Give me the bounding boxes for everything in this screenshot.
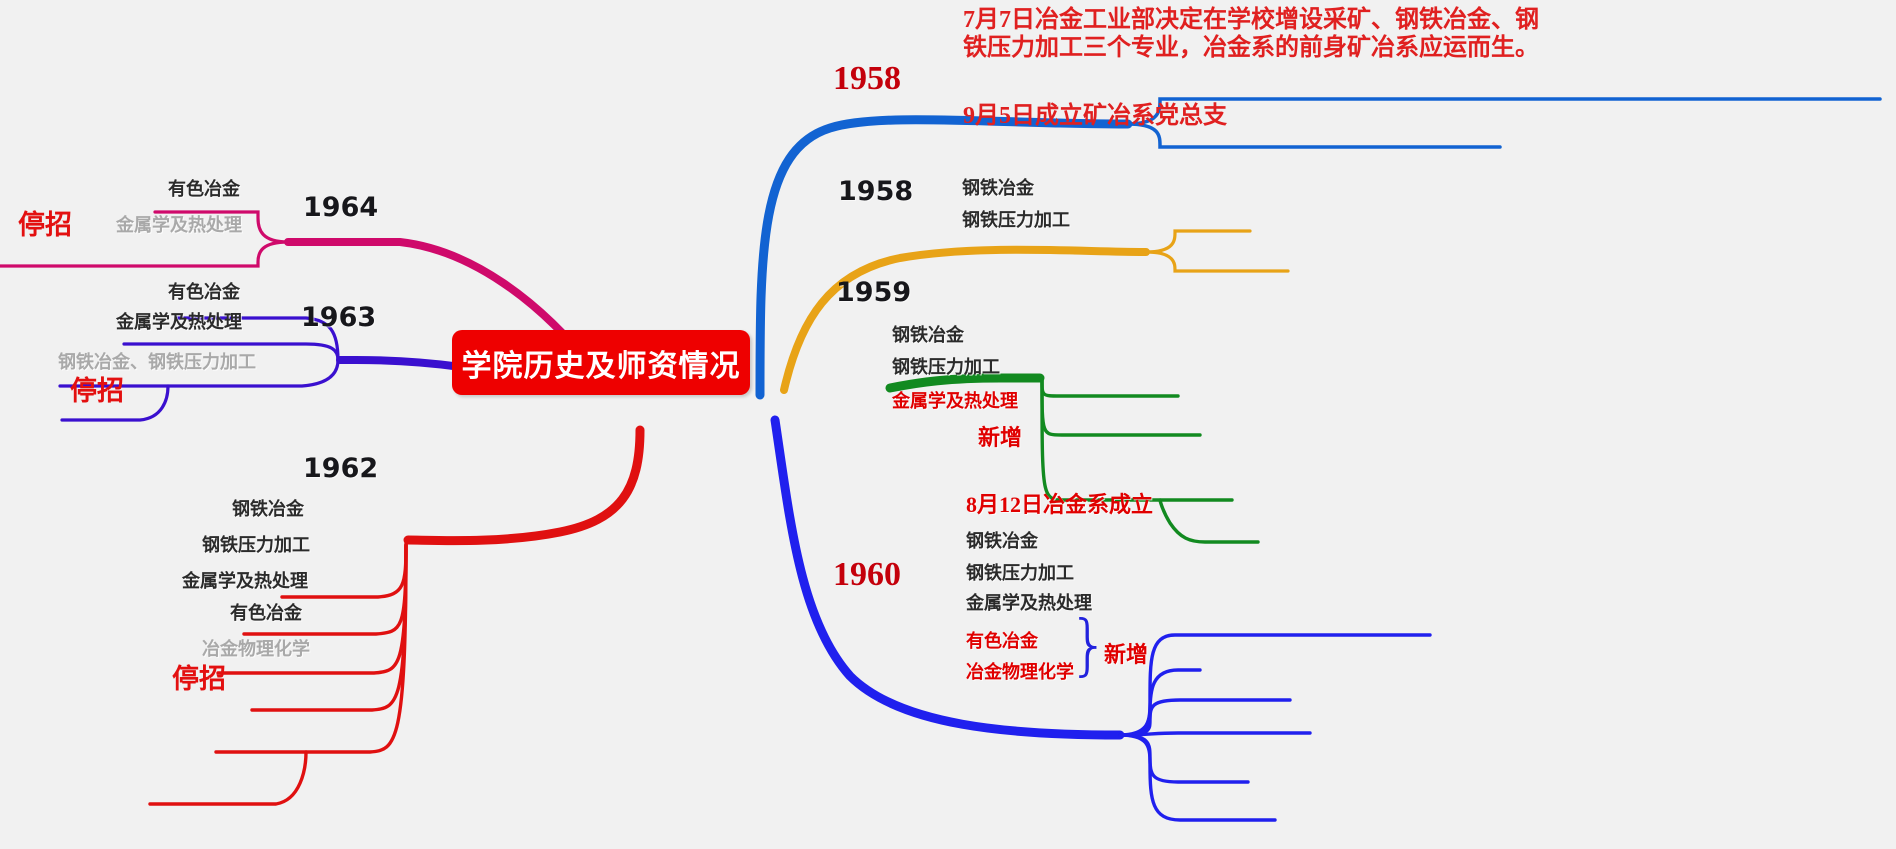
node-1959-steel-metallurgy[interactable]: 钢铁冶金 (892, 326, 964, 344)
node-1964-suspend-enrollment[interactable]: 停招 (18, 212, 72, 239)
node-1962-suspend-enrollment[interactable]: 停招 (172, 666, 226, 693)
node-1963-nonferrous-metallurgy[interactable]: 有色冶金 (168, 283, 240, 301)
node-1963-metallography-heat-treatment[interactable]: 金属学及热处理 (116, 313, 242, 331)
node-1963-suspend-enrollment[interactable]: 停招 (70, 378, 124, 405)
node-1963-steel-courses[interactable]: 钢铁冶金、钢铁压力加工 (58, 353, 256, 371)
branch-connectors (0, 0, 1896, 849)
node-1958o-steel-pressure-processing[interactable]: 钢铁压力加工 (962, 211, 1070, 229)
node-1958-party-branch[interactable]: 9月5日成立矿冶系党总支 (963, 102, 1227, 130)
node-1964-metallography-heat-treatment[interactable]: 金属学及热处理 (116, 216, 242, 234)
node-1960-nonferrous-metallurgy[interactable]: 有色冶金 (966, 632, 1038, 650)
node-1962-steel-metallurgy[interactable]: 钢铁冶金 (232, 500, 304, 518)
mindmap-canvas: 学院历史及师资情况 1958 7月7日冶金工业部决定在学校增设采矿、钢铁冶金、钢… (0, 0, 1896, 849)
node-1960-newly-added[interactable]: 新增 (1104, 644, 1148, 666)
year-label-1958-blue[interactable]: 1958 (833, 62, 901, 96)
node-1960-steel-pressure-processing[interactable]: 钢铁压力加工 (966, 564, 1074, 582)
year-label-1958-orange[interactable]: 1958 (838, 178, 913, 205)
year-label-1959[interactable]: 1959 (836, 279, 911, 306)
node-1962-nonferrous-metallurgy[interactable]: 有色冶金 (230, 604, 302, 622)
node-1962-steel-pressure-processing[interactable]: 钢铁压力加工 (202, 536, 310, 554)
node-1958o-steel-metallurgy[interactable]: 钢铁冶金 (962, 179, 1034, 197)
node-1958-decree-note[interactable]: 7月7日冶金工业部决定在学校增设采矿、钢铁冶金、钢铁压力加工三个专业，冶金系的前… (963, 6, 1548, 63)
node-1964-nonferrous-metallurgy[interactable]: 有色冶金 (168, 180, 240, 198)
node-1962-metallurgical-physical-chemistry[interactable]: 冶金物理化学 (202, 640, 310, 658)
node-1959-metallography-heat-treatment[interactable]: 金属学及热处理 (892, 392, 1018, 410)
node-1960-department-founded[interactable]: 8月12日冶金系成立 (966, 494, 1153, 516)
central-topic-node[interactable]: 学院历史及师资情况 (452, 330, 750, 395)
node-1959-newly-added[interactable]: 新增 (978, 427, 1022, 449)
year-label-1960[interactable]: 1960 (833, 558, 901, 592)
node-1960-metallurgical-physical-chemistry[interactable]: 冶金物理化学 (966, 663, 1074, 681)
node-1959-steel-pressure-processing[interactable]: 钢铁压力加工 (892, 358, 1000, 376)
year-label-1963[interactable]: 1963 (301, 304, 376, 331)
year-label-1962[interactable]: 1962 (303, 455, 378, 482)
node-1962-metallography-heat-treatment[interactable]: 金属学及热处理 (182, 572, 308, 590)
node-1960-steel-metallurgy[interactable]: 钢铁冶金 (966, 532, 1038, 550)
year-label-1964[interactable]: 1964 (303, 194, 378, 221)
